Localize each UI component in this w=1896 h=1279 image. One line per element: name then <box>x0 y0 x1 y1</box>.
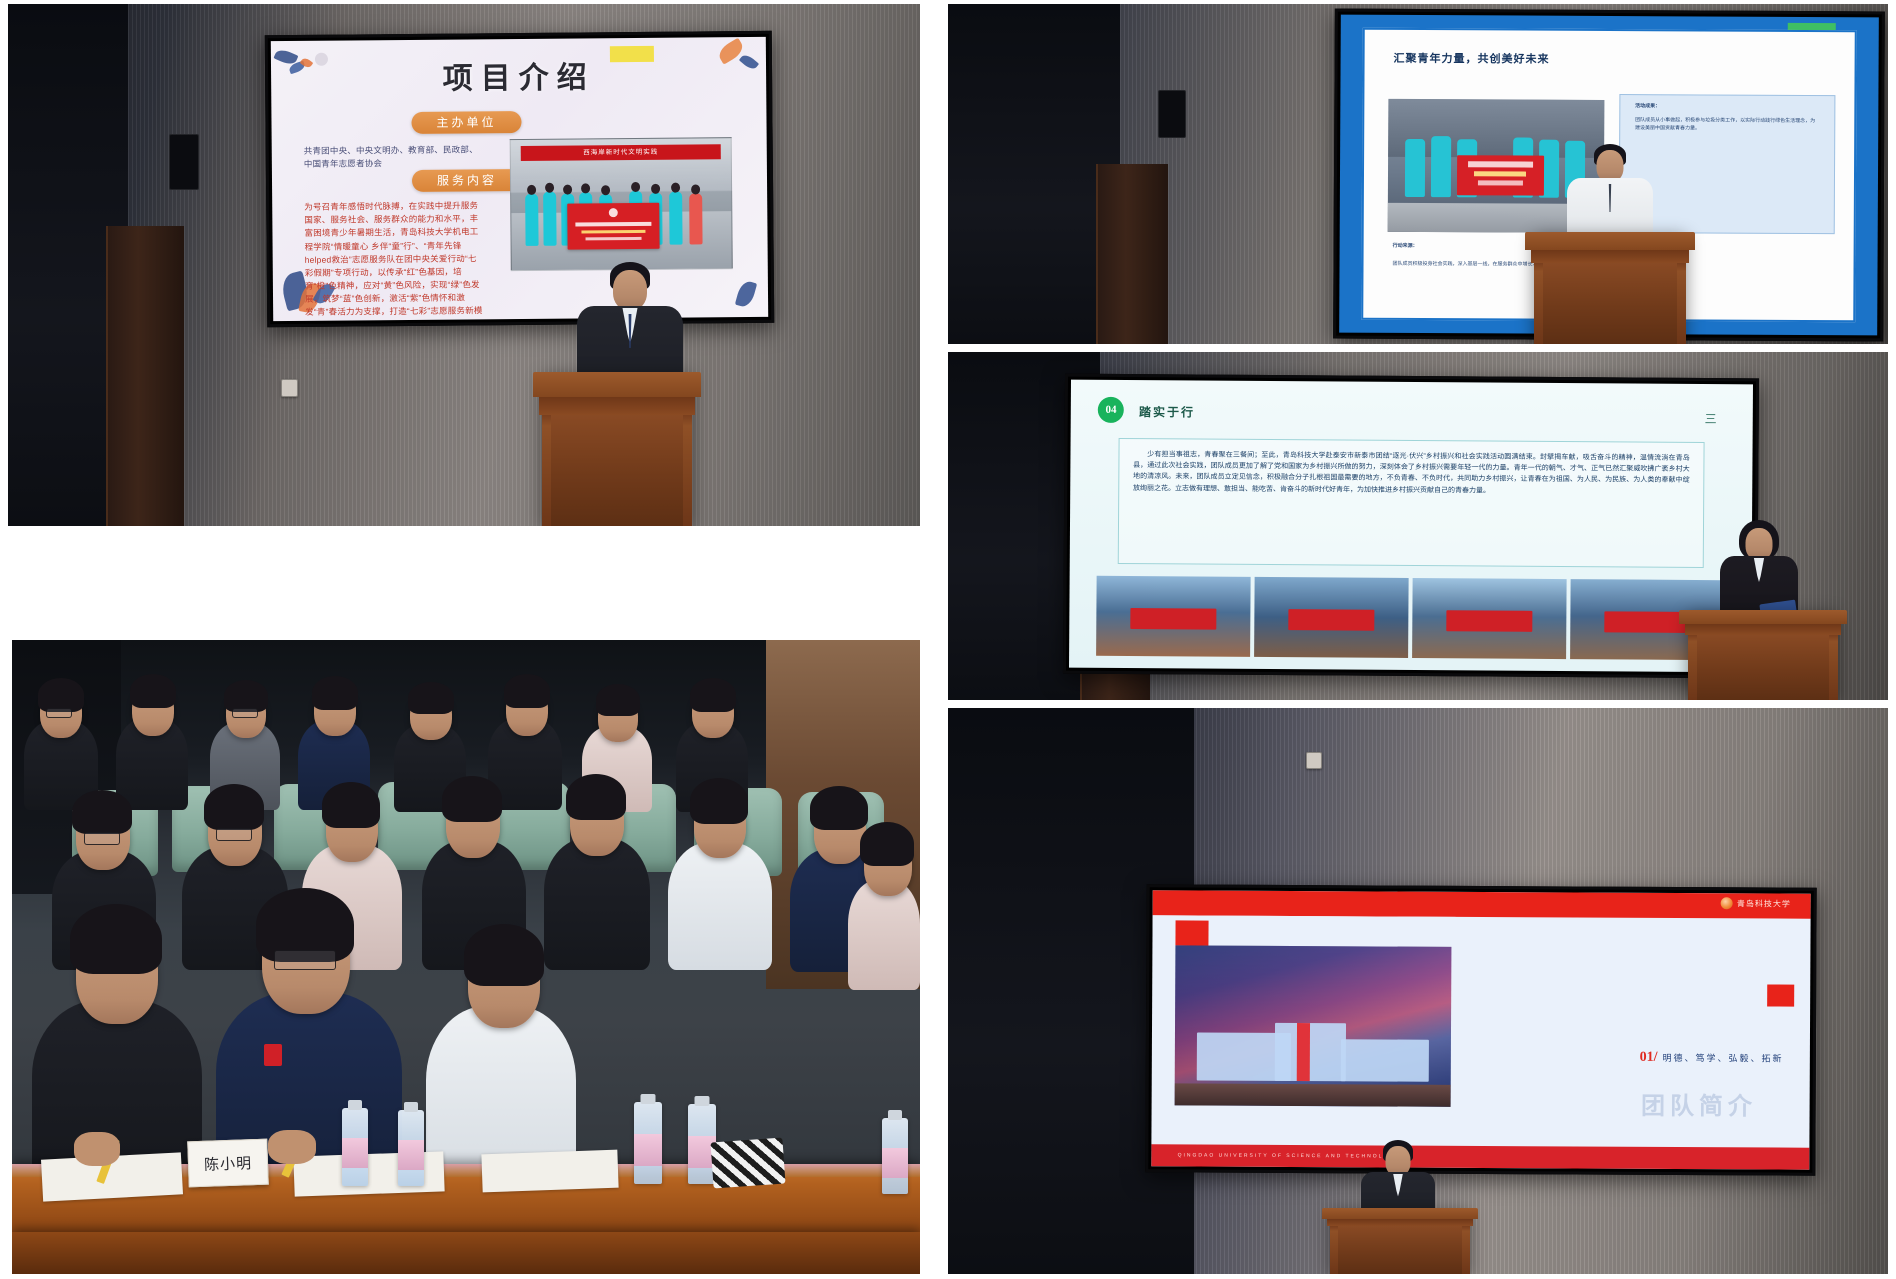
slide-section-label-source: 行动来源： <box>1393 243 1418 251</box>
wall-control-panel <box>169 134 199 190</box>
podium-body <box>1338 1226 1461 1274</box>
lapel-badge <box>264 1044 282 1066</box>
slide-photo: 西海岸新时代文明实践 <box>510 137 733 271</box>
photo-collage: 项目介绍 主办单位 共青团中央、中央文明办、教育部、民政部、中国青年志愿者协会 … <box>0 0 1896 1279</box>
bottle-label <box>882 1148 908 1178</box>
glasses-icon <box>46 708 72 718</box>
volunteer-head <box>631 182 640 192</box>
door <box>1096 164 1168 344</box>
university-logo-text: 青岛科技大学 <box>1737 898 1791 909</box>
slide-body-text: 为号召青年感悟时代脉搏，在实践中提升服务国家、服务社会、服务群众的能力和水平，丰… <box>304 199 485 319</box>
audience-hair <box>312 676 358 710</box>
document-paper <box>481 1150 618 1193</box>
audience-hair <box>690 678 736 712</box>
doorway <box>948 4 1120 344</box>
checkered-bag <box>710 1138 785 1189</box>
banner-text-line <box>1468 161 1534 168</box>
banner-text-line <box>1474 172 1526 177</box>
volunteer <box>669 192 682 245</box>
slide-thumbnail <box>1412 578 1566 660</box>
panel-bottom-right: 青岛科技大学 01/明德、笃学、弘毅、拓新 团队简介 QINGDAO UNIVE… <box>948 708 1888 1274</box>
audience-hair <box>690 778 748 824</box>
thumbnail-banner <box>1446 610 1532 632</box>
bottle-cap <box>348 1100 362 1110</box>
slide-section-label-service: 服务内容 <box>412 169 522 192</box>
water-bottle <box>882 1118 908 1194</box>
volunteer-head <box>651 184 660 194</box>
thumbnail-banner <box>1604 611 1690 633</box>
audience-hair <box>322 782 380 828</box>
banner-emblem-icon <box>609 208 618 217</box>
audience-member <box>848 880 920 990</box>
audience-hair <box>596 684 640 716</box>
slide-red-square-accent <box>1175 921 1208 946</box>
slide-section-label-organizer: 主办单位 <box>411 111 521 134</box>
section-number-text: 01/ <box>1640 1050 1658 1065</box>
front-row-hair <box>464 924 544 986</box>
volunteer <box>1405 139 1425 197</box>
panel-top-left: 项目介绍 主办单位 共青团中央、中央文明办、教育部、民政部、中国青年志愿者协会 … <box>8 4 920 526</box>
bottle-cap <box>404 1102 418 1112</box>
door <box>106 226 184 526</box>
slide-red-nub-accent <box>1767 985 1793 1007</box>
podium-mid <box>1327 1219 1473 1227</box>
campus-building <box>1341 1039 1430 1081</box>
slide-thumbnail <box>1096 576 1250 658</box>
volunteer <box>525 194 538 246</box>
slide-body-text: 少有担当事祖志，青春聚在三餐间；至此，青岛科技大学赴泰安市新泰市团结“逐光·伏兴… <box>1133 449 1690 498</box>
podium <box>542 372 692 526</box>
light-switch <box>1306 752 1322 769</box>
podium-body <box>1697 635 1829 700</box>
volunteer-head <box>563 185 572 195</box>
bottle-cap <box>641 1094 656 1104</box>
audience-hair <box>408 682 454 714</box>
podium-body <box>551 415 683 526</box>
projection-screen: 04 踏实于行 三 少有担当事祖志，青春聚在三餐间；至此，青岛科技大学赴泰安市新… <box>1063 374 1759 679</box>
podium <box>1688 610 1838 700</box>
slide-text-box: 少有担当事祖志，青春聚在三餐间；至此，青岛科技大学赴泰安市新泰市团结“逐光·伏兴… <box>1117 438 1704 569</box>
slide-title: 项目介绍 <box>271 51 766 99</box>
slide-practice: 04 踏实于行 三 少有担当事祖志，青春聚在三餐间；至此，青岛科技大学赴泰安市新… <box>1069 380 1753 673</box>
slide-motto: 明德、笃学、弘毅、拓新 <box>1663 1053 1784 1064</box>
panel-top-right: 汇聚青年力量，共创美好未来 <box>948 4 1888 344</box>
light-switch <box>281 379 298 397</box>
audience-hair <box>442 776 502 822</box>
name-placard[interactable]: 陈小明 <box>187 1139 269 1188</box>
thumbnail-banner <box>1130 608 1216 630</box>
audience-member <box>668 842 772 970</box>
water-bottle <box>398 1110 424 1186</box>
podium-mid <box>539 397 695 415</box>
panel-mid-right: 04 踏实于行 三 少有担当事祖志，青春聚在三餐间；至此，青岛科技大学赴泰安市新… <box>948 352 1888 700</box>
bottle-cap <box>695 1096 710 1106</box>
banner-text-line <box>1478 180 1523 185</box>
slide-organizer-text: 共青团中央、中央文明办、教育部、民政部、中国青年志愿者协会 <box>304 143 482 171</box>
slide-campus-photo <box>1175 946 1452 1108</box>
speaker-head <box>613 270 647 310</box>
slide-footer-bar: QINGDAO UNIVERSITY OF SCIENCE AND TECHNO… <box>1151 1144 1809 1170</box>
volunteer-head <box>581 183 590 193</box>
water-bottle <box>634 1102 662 1184</box>
audience-hair <box>810 786 868 830</box>
water-bottle <box>342 1108 368 1186</box>
university-logo: 青岛科技大学 <box>1721 898 1791 910</box>
slide-team-intro: 青岛科技大学 01/明德、笃学、弘毅、拓新 团队简介 QINGDAO UNIVE… <box>1151 890 1810 1169</box>
audience-hair <box>860 822 914 866</box>
podium-mid <box>1685 624 1841 635</box>
campus-accent <box>1296 1023 1310 1081</box>
bottle-label <box>342 1138 368 1168</box>
banner-text-line <box>581 230 645 234</box>
podium-top <box>1525 232 1695 250</box>
menu-icon: 三 <box>1705 410 1719 427</box>
audience-hair <box>38 678 84 712</box>
slide-body-text-results: 团队成员从小事做起，积极参与垃圾分类工作，以实际行动践行绿色生活理念，为建设美丽… <box>1635 117 1819 133</box>
audience-member <box>544 838 650 970</box>
slide-title: 汇聚青年力量，共创美好未来 <box>1394 50 1550 67</box>
glasses-icon <box>274 950 336 970</box>
banner-text-line <box>575 222 651 227</box>
slide-section-number: 01/明德、笃学、弘毅、拓新 <box>1640 1050 1784 1067</box>
hand <box>74 1132 120 1166</box>
glasses-icon <box>216 828 252 841</box>
audience-hair <box>130 674 176 708</box>
podium <box>1534 232 1686 344</box>
leaf-decoration-icon <box>735 279 757 308</box>
slide-thumbnail-strip <box>1096 576 1724 661</box>
wall-control-panel <box>1158 90 1186 138</box>
projection-screen: 项目介绍 主办单位 共青团中央、中央文明办、教育部、民政部、中国青年志愿者协会 … <box>265 31 775 327</box>
glasses-icon <box>84 832 120 845</box>
audience-hair <box>566 774 626 820</box>
volunteer <box>543 192 556 246</box>
slide-photo-banner-text: 西海岸新时代文明实践 <box>521 144 721 161</box>
bottle-label <box>634 1134 662 1166</box>
campus-foreground <box>1175 1083 1451 1107</box>
bottle-label <box>398 1140 424 1170</box>
podium-top <box>533 372 701 397</box>
volunteer-head <box>527 185 536 195</box>
podium <box>1330 1208 1470 1274</box>
volunteer-head <box>545 183 554 193</box>
slide-ghost-title: 团队简介 <box>1641 1086 1757 1122</box>
glasses-icon <box>232 708 258 718</box>
bottle-cap <box>888 1110 902 1120</box>
volunteer-head <box>691 184 700 194</box>
audience-hair <box>204 784 264 830</box>
slide-red-header-bar <box>1153 890 1811 918</box>
panel-bottom-left: 陈小明 <box>12 640 920 1274</box>
slide-section-label-results: 活动成果： <box>1635 104 1660 112</box>
audience-hair <box>72 790 132 834</box>
banner-text-line <box>586 237 642 240</box>
projection-screen: 青岛科技大学 01/明德、笃学、弘毅、拓新 团队简介 QINGDAO UNIVE… <box>1145 884 1816 1176</box>
front-desk-lower <box>12 1232 920 1274</box>
slide-photo-red-banner <box>567 203 659 250</box>
university-logo-mark-icon <box>1721 898 1733 910</box>
slide-thumbnail <box>1254 577 1408 659</box>
hand <box>268 1130 316 1164</box>
red-banner <box>1457 155 1544 195</box>
podium-top <box>1322 1208 1479 1219</box>
podium-body <box>1543 263 1677 344</box>
audience-hair <box>504 674 550 708</box>
thumbnail-banner <box>1288 609 1374 631</box>
volunteer <box>689 193 702 244</box>
volunteer <box>1431 136 1451 197</box>
front-row-hair <box>70 904 162 974</box>
podium-mid <box>1531 250 1689 263</box>
volunteer-head <box>601 185 610 195</box>
slide-heading: 踏实于行 <box>1139 403 1195 420</box>
podium-top <box>1679 610 1847 624</box>
volunteer-head <box>671 183 680 193</box>
slide-section-badge: 04 <box>1098 397 1124 423</box>
name-placard-text: 陈小明 <box>204 1152 253 1175</box>
